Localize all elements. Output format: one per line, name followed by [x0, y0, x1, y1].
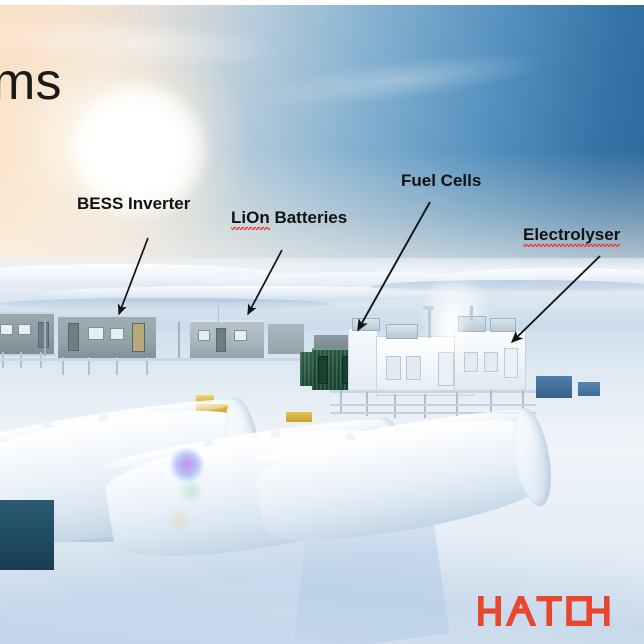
site-photograph — [0, 0, 644, 644]
callout-label-bess-inverter: BESS Inverter — [77, 195, 190, 214]
teal-container — [0, 500, 54, 570]
light-pole — [44, 318, 46, 356]
lens-flare — [170, 448, 204, 482]
plant-platform — [330, 390, 540, 393]
hatch-wordmark-icon — [478, 596, 610, 626]
snow-ridge-shadow — [0, 298, 330, 310]
roof-hvac-unit — [490, 318, 516, 332]
slide-top-margin — [0, 0, 644, 5]
page-title: stems — [0, 56, 62, 108]
blue-container — [578, 382, 600, 396]
misspelled-word-electrolyser: Electrolyser — [523, 225, 620, 247]
antenna-mast — [218, 306, 219, 328]
site-building-module — [58, 315, 156, 357]
roof-hvac-unit — [386, 324, 418, 339]
light-pole — [178, 322, 180, 358]
yellow-machinery — [286, 412, 312, 422]
callout-label-electrolyser: Electrolyser — [523, 226, 620, 245]
misspelled-word-lion: LiOn — [231, 208, 270, 230]
lens-flare — [178, 478, 204, 504]
roof-hvac-unit — [352, 318, 380, 331]
site-building-module — [190, 320, 264, 356]
pipe-rack — [0, 358, 310, 361]
hatch-logo — [478, 596, 610, 626]
presentation-slide: stems n BESS Inverter LiOn Batteries Fue… — [0, 0, 644, 644]
callout-label-lion-rest: Batteries — [270, 208, 347, 227]
callout-label-lion-batteries: LiOn Batteries — [231, 209, 347, 228]
steam-plume — [415, 290, 485, 370]
lens-flare — [168, 508, 190, 530]
blue-container — [536, 376, 572, 398]
site-building-module — [268, 324, 304, 354]
callout-label-fuel-cells: Fuel Cells — [401, 172, 481, 191]
process-building — [348, 328, 376, 390]
